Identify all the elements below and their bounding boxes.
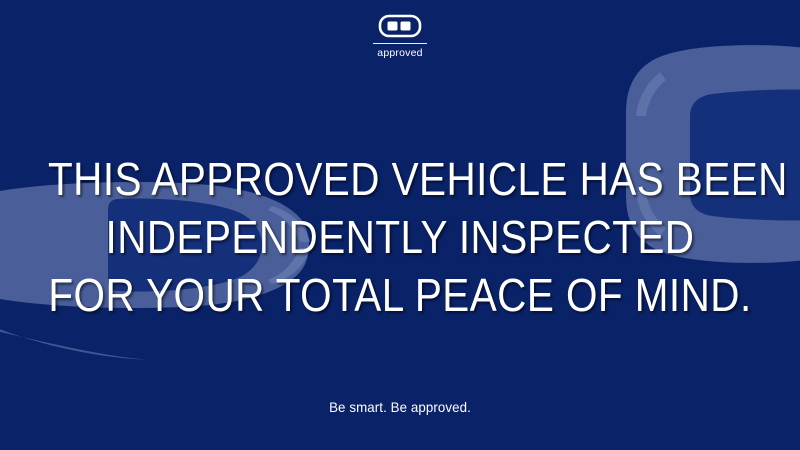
headline: THIS APPROVED VEHICLE HAS BEEN INDEPENDE… [0,150,800,324]
brand-logo: approved [0,14,800,60]
footer-tagline: Be smart. Be approved. [20,398,780,416]
headline-line-3: FOR YOUR TOTAL PEACE OF MIND. [48,266,752,324]
logo-wordmark: approved [0,47,800,60]
headline-line-1: THIS APPROVED VEHICLE HAS BEEN [48,150,752,208]
car-top-view-icon [378,14,422,38]
promo-banner: approved THIS APPROVED VEHICLE HAS BEEN … [0,0,800,450]
headline-line-2: INDEPENDENTLY INSPECTED [48,208,752,266]
logo-divider [373,43,427,44]
